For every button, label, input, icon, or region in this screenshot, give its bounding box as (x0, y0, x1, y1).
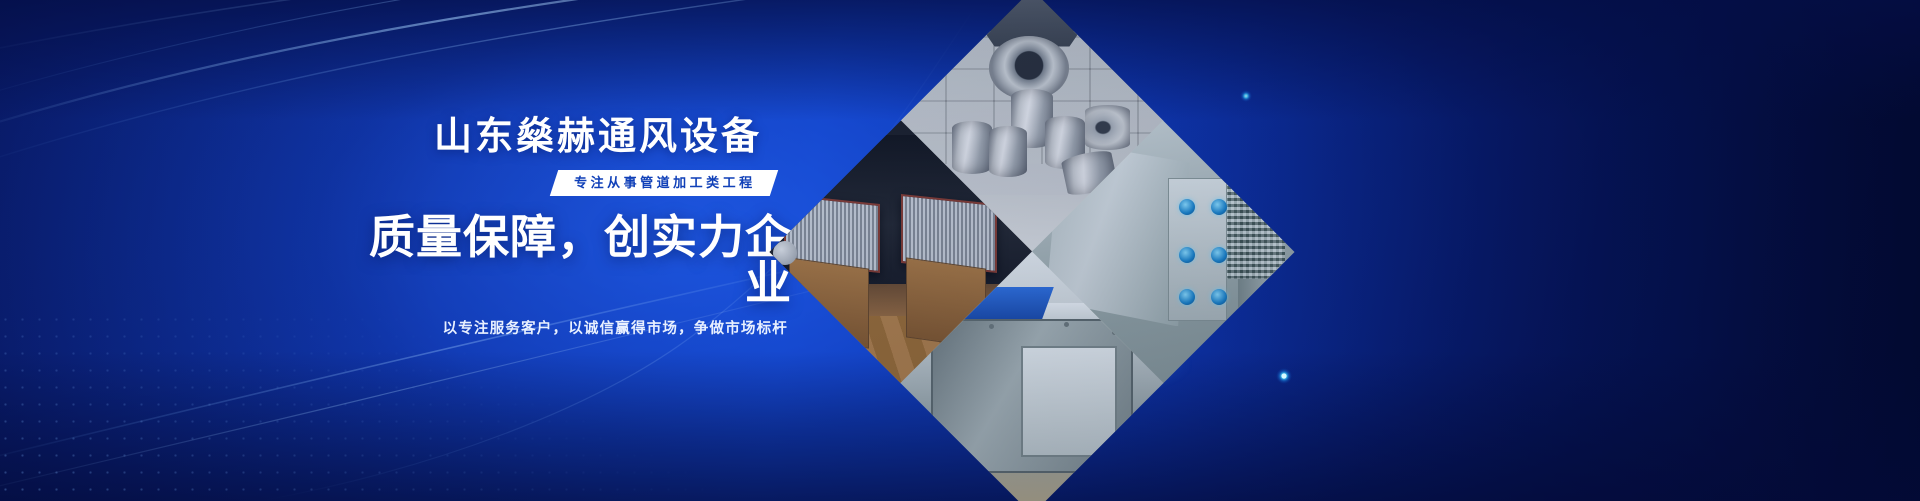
hero-tagline: 以专注服务客户，以诚信赢得市场，争做市场标杆 (330, 322, 800, 337)
product-collage (802, 22, 1262, 482)
page-title: 山东燊赫通风设备 (330, 118, 800, 156)
subtitle-ribbon-label: 专注从事管道加工类工程 (575, 176, 757, 189)
hero-banner: 山东燊赫通风设备 专注从事管道加工类工程 质量保障，创实力企业 以专注服务客户，… (0, 0, 1920, 501)
hero-headline: 质量保障，创实力企业 (330, 214, 800, 306)
hero-copy-block: 山东燊赫通风设备 专注从事管道加工类工程 质量保障，创实力企业 以专注服务客户，… (330, 118, 800, 328)
dotted-grid-mesh (0, 311, 740, 501)
subtitle-ribbon: 专注从事管道加工类工程 (550, 170, 778, 196)
ribbon-wrapper: 专注从事管道加工类工程 (330, 170, 800, 196)
